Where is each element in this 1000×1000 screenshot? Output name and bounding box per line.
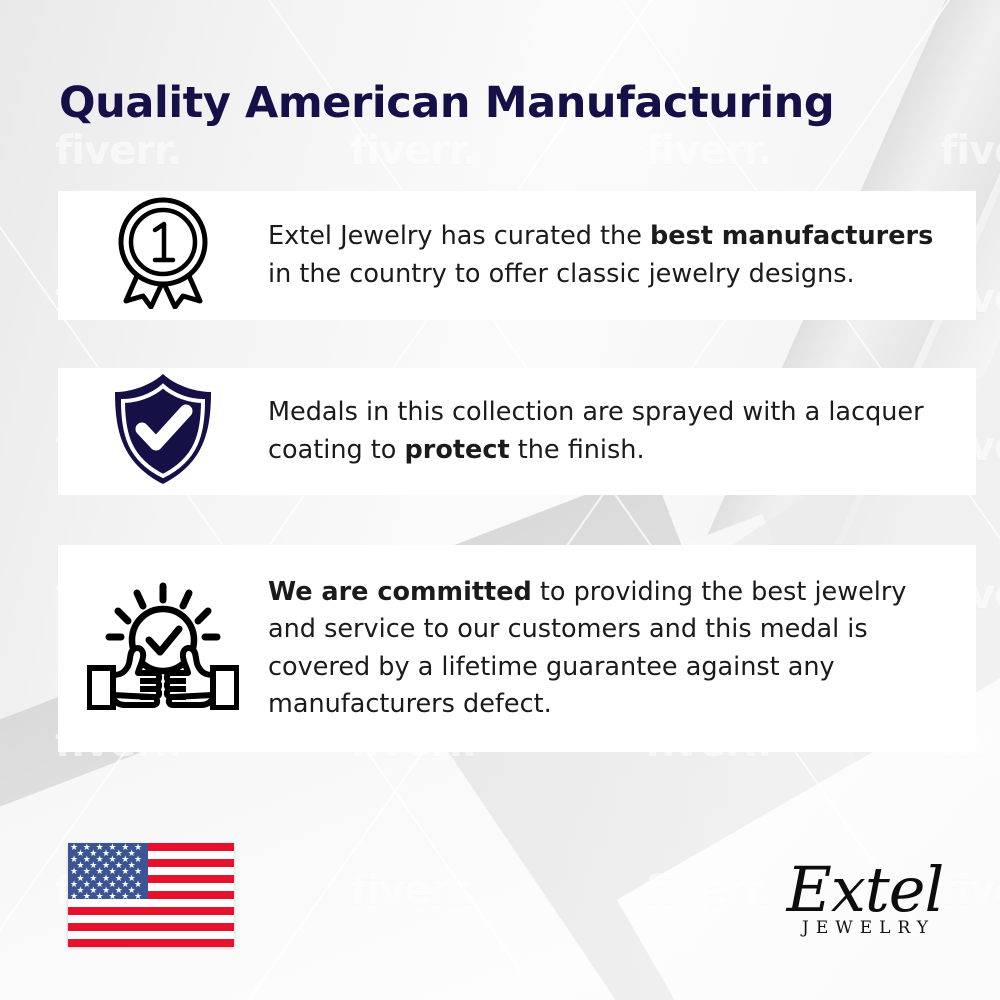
flag-star: ★: [121, 893, 129, 899]
flag-star: ★: [108, 893, 116, 899]
poster-canvas: fiverr.fiverr.fiverr.fiverr.fiverr.fiver…: [0, 0, 1000, 1000]
thumbs-up-check-icon: [87, 582, 239, 715]
flag-stripe: [68, 923, 234, 931]
flag-stripe: [68, 939, 234, 947]
feature-card-2: Medals in this collection are sprayed wi…: [58, 368, 976, 495]
flag-star: ★: [96, 893, 104, 899]
flag-star: ★: [134, 893, 142, 899]
flag-canton: ★★★★★★★★★★★★★★★★★★★★★★★★★★★★★★★★★★★★★★★★…: [68, 843, 148, 899]
american-flag: ★★★★★★★★★★★★★★★★★★★★★★★★★★★★★★★★★★★★★★★★…: [68, 843, 234, 947]
feature-icon-cell-1: [58, 197, 268, 314]
shield-check-icon: [110, 371, 216, 492]
feature-text-3: We are committed to providing the best j…: [268, 574, 976, 724]
feature-text-2: Medals in this collection are sprayed wi…: [268, 394, 976, 469]
extel-jewelry-logo: Extel JEWELRY: [770, 858, 960, 954]
page-title: Quality American Manufacturing: [59, 78, 834, 128]
flag-star: ★: [83, 893, 91, 899]
flag-stripe: [68, 907, 234, 915]
logo-script-text: Extel: [770, 858, 960, 922]
feature-card-1: Extel Jewelry has curated the best manuf…: [58, 191, 976, 320]
award-ribbon-icon: [110, 197, 216, 314]
feature-text-1: Extel Jewelry has curated the best manuf…: [268, 218, 976, 293]
flag-star: ★: [70, 893, 78, 899]
feature-icon-cell-2: [58, 371, 268, 492]
feature-card-3: We are committed to providing the best j…: [58, 545, 976, 752]
feature-icon-cell-3: [58, 582, 268, 715]
